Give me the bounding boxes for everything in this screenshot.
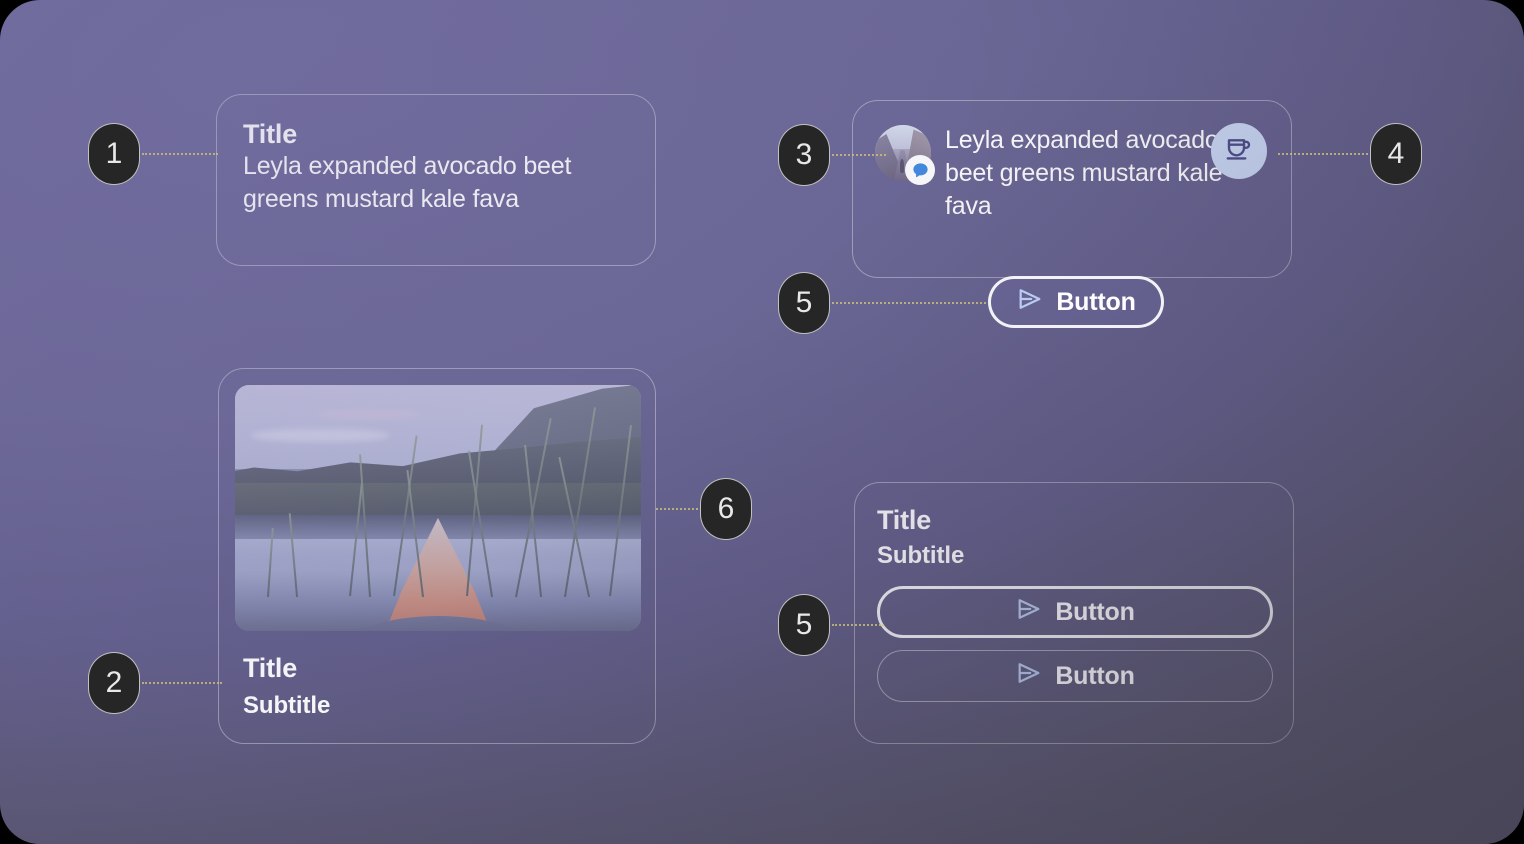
secondary-action-button-label: Button	[1055, 662, 1134, 691]
connector-line-3	[832, 154, 886, 156]
connector-line-6	[656, 508, 702, 510]
send-icon	[1015, 595, 1043, 630]
floating-button-label: Button	[1056, 288, 1135, 317]
annotation-badge-4[interactable]: 4	[1370, 123, 1422, 185]
coffee-cup-icon	[1224, 134, 1254, 169]
secondary-action-button[interactable]: Button	[877, 650, 1273, 702]
media-card-image[interactable]	[235, 385, 641, 631]
annotation-badge-2[interactable]: 2	[88, 652, 140, 714]
floating-button[interactable]: Button	[988, 276, 1164, 328]
text-card-body: Leyla expanded avocado beet greens musta…	[243, 150, 629, 216]
message-card-trailing-icon[interactable]	[1211, 123, 1267, 179]
send-icon	[1016, 285, 1044, 320]
annotation-badge-5-bottom[interactable]: 5	[778, 594, 830, 656]
annotation-badge-5-top[interactable]: 5	[778, 272, 830, 334]
actions-card-title: Title	[877, 505, 1271, 536]
send-icon	[1015, 659, 1043, 694]
actions-card[interactable]: Title Subtitle Button Button	[854, 482, 1294, 744]
annotation-badge-6[interactable]: 6	[700, 478, 752, 540]
connector-line-1	[142, 153, 218, 155]
media-card-subtitle: Subtitle	[243, 692, 330, 719]
connector-line-5-bottom	[832, 624, 884, 626]
annotation-badge-1[interactable]: 1	[88, 123, 140, 185]
connector-line-5-top	[832, 302, 986, 304]
message-card[interactable]: Leyla expanded avocado beet greens musta…	[852, 100, 1292, 278]
primary-action-button-label: Button	[1055, 598, 1134, 627]
text-card-title: Title	[243, 119, 297, 149]
photo-color-tint	[235, 385, 641, 631]
primary-action-button[interactable]: Button	[877, 586, 1273, 638]
connector-line-2	[142, 682, 222, 684]
actions-card-subtitle: Subtitle	[877, 542, 1271, 570]
text-card[interactable]: Title Leyla expanded avocado beet greens…	[216, 94, 656, 266]
design-annotation-canvas: Title Leyla expanded avocado beet greens…	[0, 0, 1524, 844]
media-card-title: Title	[243, 653, 631, 684]
media-card[interactable]: Title Subtitle	[218, 368, 656, 744]
connector-line-4	[1278, 153, 1368, 155]
chat-bubble-icon	[905, 155, 935, 185]
avatar-figure	[900, 159, 904, 174]
message-card-avatar[interactable]	[875, 125, 931, 181]
media-card-caption: Title Subtitle	[235, 631, 639, 720]
annotation-badge-3[interactable]: 3	[778, 124, 830, 186]
